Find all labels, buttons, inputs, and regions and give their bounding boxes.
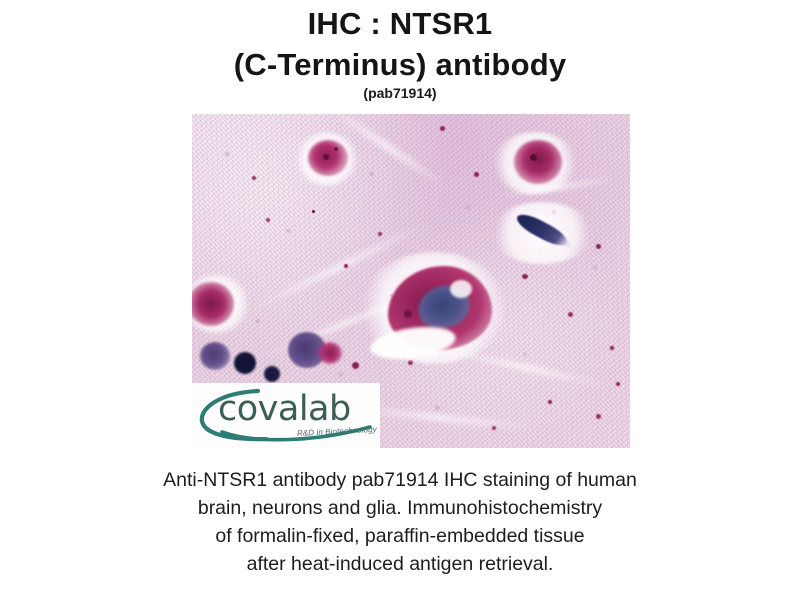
granular-deposit (596, 244, 601, 249)
granular-deposit (474, 172, 479, 177)
granular-deposit (352, 362, 359, 369)
stained-glial-deposit (318, 342, 342, 364)
dark-nucleus (264, 366, 280, 382)
stained-neuron-upper-right (514, 140, 562, 184)
granular-deposit (616, 382, 620, 386)
granular-deposit (440, 126, 445, 131)
caption-line: Anti-NTSR1 antibody pab71914 IHC stainin… (0, 466, 800, 494)
granular-deposit (334, 147, 338, 151)
covalab-logo: covalab R&D in Biotechnology (192, 383, 380, 448)
purple-neuron-lower-center (200, 342, 230, 370)
page-title-line-2: (C-Terminus) antibody (0, 44, 800, 86)
caption-line: after heat-induced antigen retrieval. (0, 550, 800, 578)
figure-caption: Anti-NTSR1 antibody pab71914 IHC stainin… (0, 466, 800, 578)
micrograph-figure: covalab R&D in Biotechnology (192, 114, 630, 448)
page-title-line-1: IHC : NTSR1 (0, 4, 800, 44)
vacuole (450, 280, 472, 298)
logo-wordmark: covalab (218, 392, 351, 427)
caption-line: brain, neurons and glia. Immunohistochem… (0, 494, 800, 522)
dark-nucleus (234, 352, 256, 374)
granular-deposit (596, 414, 601, 419)
granular-deposit (568, 312, 573, 317)
granular-deposit (548, 400, 552, 404)
granular-deposit (312, 210, 315, 213)
granular-deposit (266, 218, 270, 222)
covalab-logo-inner: covalab R&D in Biotechnology (192, 383, 380, 448)
granular-deposit (610, 346, 614, 350)
catalog-number: (pab71914) (0, 85, 800, 102)
caption-line: of formalin-fixed, paraffin-embedded tis… (0, 522, 800, 550)
title-block: IHC : NTSR1 (C-Terminus) antibody (pab71… (0, 0, 800, 102)
granular-deposit (344, 264, 348, 268)
granular-deposit (492, 426, 496, 430)
granular-deposit (378, 232, 382, 236)
granular-deposit (404, 310, 412, 318)
granular-deposit (323, 154, 329, 160)
ihc-micrograph-image: covalab R&D in Biotechnology (192, 114, 630, 448)
granular-deposit (252, 176, 256, 180)
granular-deposit (522, 274, 528, 279)
granular-deposit (530, 154, 537, 161)
